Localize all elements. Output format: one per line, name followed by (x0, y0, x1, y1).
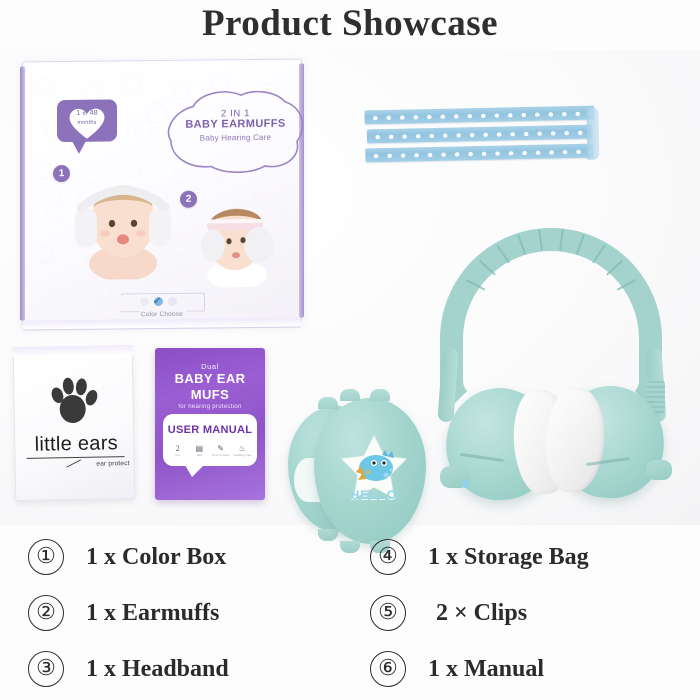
ribbon-strip (365, 144, 593, 163)
hello-text: HELLO (340, 488, 408, 502)
clip-nub (370, 389, 390, 401)
color-choose-group: ✔ Color Choose (121, 293, 203, 320)
manual-icon-row: 2 pcs ▤ size ✎ how to wear ♨ washing car… (167, 444, 253, 462)
bag-top-flap (12, 345, 134, 357)
legend-column-right: ④ 1 x Storage Bag ⑤ 2 × Clips ⑥ 1 x Manu… (370, 528, 700, 700)
legend-item-3: ③ 1 x Headband (28, 644, 229, 694)
legend: ① 1 x Color Box ② 1 x Earmuffs ③ 1 x Hea… (0, 528, 700, 700)
manual-icon-cell: ♨ washing care (232, 444, 252, 458)
legend-item-4: ④ 1 x Storage Bag (370, 532, 589, 582)
color-swatch-1 (140, 297, 149, 306)
box-title-line2: BABY EARMUFFS (163, 118, 308, 131)
legend-column-left: ① 1 x Color Box ② 1 x Earmuffs ③ 1 x Hea… (28, 528, 378, 700)
months-to: to (82, 111, 87, 117)
paw-print-icon (44, 376, 101, 425)
months-badge-text: 1 to 48 months (57, 108, 117, 128)
manual-header-main: BABY EAR MUFS (155, 371, 265, 403)
color-swatch-3 (168, 297, 177, 306)
clip-nub (340, 389, 360, 401)
months-unit: months (57, 118, 117, 128)
legend-number: ④ (370, 539, 406, 575)
manual-title: USER MANUAL (163, 424, 257, 436)
manual-bubble: USER MANUAL 2 pcs ▤ size ✎ how to wear ♨… (163, 414, 257, 466)
bag-brand-text: little ears (21, 432, 131, 457)
wear-icon: ✎ (211, 444, 231, 453)
box-title-text: 2 IN 1 BABY EARMUFFS Baby Hearing Care (163, 107, 308, 144)
color-choose-label: Color Choose (121, 311, 203, 319)
legend-item-1: ① 1 x Color Box (28, 532, 226, 582)
earmuff-hinge-dot (462, 480, 470, 488)
manual-icon-label: size (189, 453, 209, 458)
legend-item-5: ⑤ 2 × Clips (370, 588, 527, 638)
ribbon-strip (367, 125, 593, 144)
manual-icon-label: washing care (232, 453, 252, 458)
legend-number: ② (28, 595, 64, 631)
storage-bag: little ears ear protect (13, 349, 136, 501)
baby-photo-headband (191, 195, 287, 288)
headband-ribbon (364, 106, 595, 171)
box-title-line3: Baby Hearing Care (163, 131, 308, 144)
legend-number: ⑤ (370, 595, 406, 631)
manual-header-small: Dual (155, 362, 265, 371)
legend-item-6: ⑥ 1 x Manual (370, 644, 544, 694)
check-icon: ✔ (153, 296, 164, 307)
months-max: 48 (90, 110, 98, 117)
legend-label: 1 x Storage Bag (428, 544, 589, 571)
months-badge: 1 to 48 months (57, 99, 117, 142)
ribbon-strip (364, 106, 594, 125)
size-icon: ▤ (189, 444, 209, 453)
legend-item-2: ② 1 x Earmuffs (28, 588, 219, 638)
ribbon-fold (586, 108, 599, 160)
legend-label: 1 x Color Box (86, 544, 226, 571)
product-photo: 1 to 48 months 2 IN 1 BABY EARMUFFS Baby… (0, 50, 700, 525)
ribbon-dots (369, 148, 591, 158)
wash-icon: ♨ (232, 444, 252, 453)
manual-header: Dual BABY EAR MUFS for hearing protectio… (155, 362, 265, 410)
legend-number: ③ (28, 651, 64, 687)
step-badge-2: 2 (180, 191, 197, 208)
ribbon-dots (368, 110, 590, 120)
earmuffs-product (418, 228, 686, 528)
baby-photo-earmuffs (67, 171, 179, 280)
manual-icon-cell: ▤ size (189, 444, 209, 458)
box-bottom-edge (23, 318, 301, 331)
legend-label: 1 x Headband (86, 656, 229, 683)
manual-icon-cell: 2 pcs (168, 444, 188, 458)
bag-tagline: ear protect (68, 460, 130, 468)
ribbon-dots (371, 129, 593, 139)
legend-label: 1 x Manual (428, 656, 544, 683)
color-box: 1 to 48 months 2 IN 1 BABY EARMUFFS Baby… (22, 59, 302, 326)
quantity-icon: 2 (168, 444, 188, 453)
legend-label: 2 × Clips (436, 600, 527, 627)
legend-label: 1 x Earmuffs (86, 600, 219, 627)
manual-icon-cell: ✎ how to wear (211, 444, 231, 458)
legend-number: ① (28, 539, 64, 575)
manual-header-sub: for hearing protection (155, 404, 265, 410)
legend-number: ⑥ (370, 651, 406, 687)
clip-nub (318, 397, 338, 409)
user-manual-booklet: Dual BABY EAR MUFS for hearing protectio… (155, 348, 265, 500)
box-left-edge (20, 66, 25, 320)
earmuff-hinge-right (646, 460, 672, 480)
page-title: Product Showcase (0, 2, 700, 45)
step-badge-1: 1 (53, 165, 70, 182)
months-from: 1 (76, 110, 80, 117)
manual-icon-label: pcs (168, 453, 188, 458)
manual-icon-label: how to wear (211, 453, 231, 458)
